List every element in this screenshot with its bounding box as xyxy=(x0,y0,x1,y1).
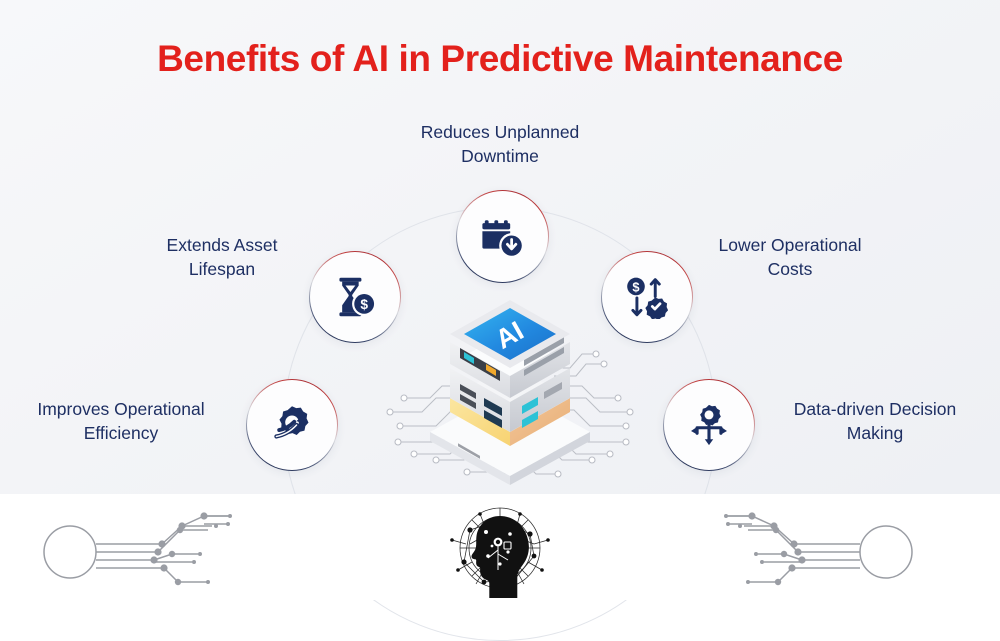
benefit-label-reduces-unplanned-downtime: Reduces Unplanned Downtime xyxy=(380,121,620,168)
ai-head-neural-network-icon xyxy=(440,500,560,598)
benefit-label-improves-operational-efficiency: Improves Operational Efficiency xyxy=(8,398,234,445)
circuit-node-lines-left-icon xyxy=(38,500,238,598)
infographic-canvas: Benefits of AI in Predictive Maintenance… xyxy=(0,0,1000,600)
footer-left-graphic xyxy=(38,500,238,603)
benefit-icon-reduces-unplanned-downtime[interactable] xyxy=(456,190,549,283)
benefit-label-extends-asset-lifespan: Extends Asset Lifespan xyxy=(132,234,312,281)
center-ai-server-graphic: AI xyxy=(340,280,680,490)
calendar-down-arrow-icon xyxy=(480,214,526,260)
gear-up-arrow-icon xyxy=(270,403,314,447)
benefit-label-data-driven-decision-making: Data-driven Decision Making xyxy=(762,398,988,445)
footer-right-graphic xyxy=(718,500,918,603)
footer-center-graphic xyxy=(440,500,560,603)
benefit-icon-improves-operational-efficiency[interactable] xyxy=(246,379,338,471)
gear-branching-arrows-icon xyxy=(687,403,731,447)
benefit-label-lower-operational-costs: Lower Operational Costs xyxy=(690,234,890,281)
page-title: Benefits of AI in Predictive Maintenance xyxy=(0,38,1000,80)
ai-server-chip-isometric: AI xyxy=(340,280,680,490)
circuit-node-lines-right-icon xyxy=(718,500,918,598)
